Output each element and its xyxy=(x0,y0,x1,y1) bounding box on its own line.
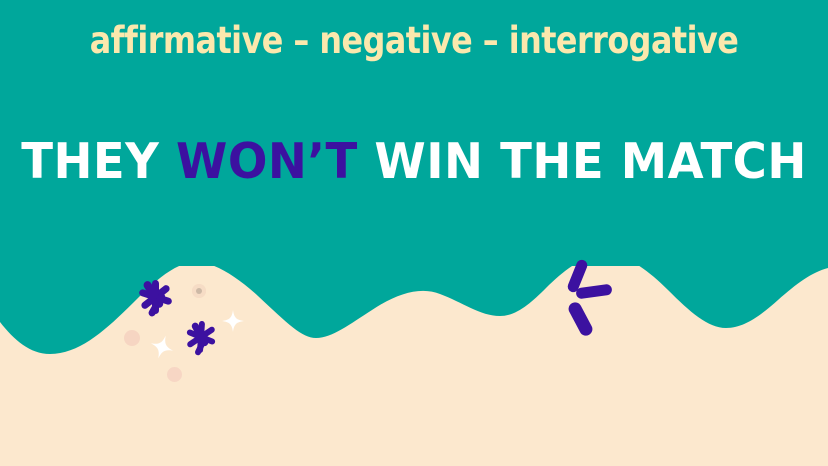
purple-asterisk-small xyxy=(182,318,220,356)
soft-dot-left xyxy=(124,330,140,346)
purple-asterisk-large xyxy=(135,277,175,317)
white-sparkle-right xyxy=(222,310,244,332)
soft-dot-bottom xyxy=(167,367,182,382)
headline-part-one: THEY xyxy=(21,133,176,190)
slide-headline: THEY WON’T WIN THE MATCH xyxy=(21,131,808,193)
purple-dash-bottom xyxy=(566,300,594,338)
ring-dot-top xyxy=(192,284,206,298)
wave-decoration xyxy=(0,266,828,466)
purple-dash-middle xyxy=(575,284,612,300)
headline-part-two: WIN THE MATCH xyxy=(358,133,807,190)
headline-accent-word: WON’T xyxy=(176,133,358,190)
slide-subtitle: affirmative – negative – interrogative xyxy=(58,18,770,64)
slide-canvas: affirmative – negative – interrogative T… xyxy=(0,0,828,466)
white-sparkle-left xyxy=(150,335,174,359)
